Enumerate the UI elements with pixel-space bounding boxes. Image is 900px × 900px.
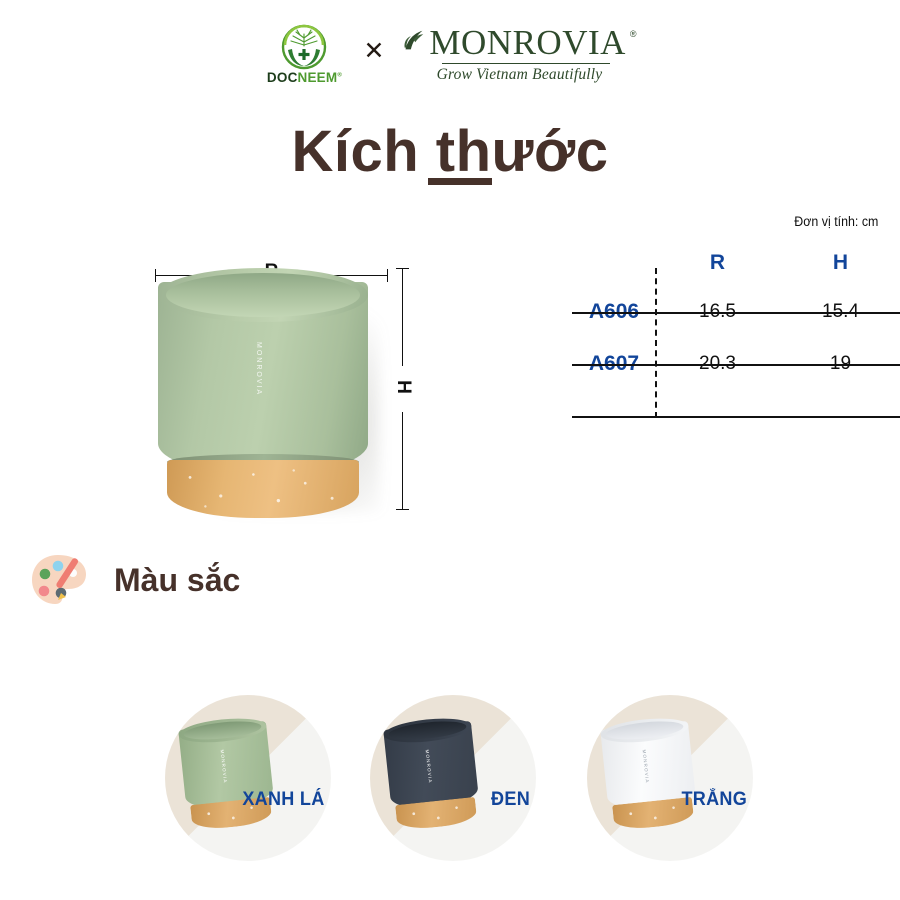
- color-swatch-list: MONROVIA XANH LÁ MONROVIA ĐEN: [0, 690, 900, 870]
- swatch-label: ĐEN: [491, 789, 530, 811]
- collaboration-separator: ✕: [363, 39, 384, 70]
- dimension-table: Đơn vị tính: cm R H A606 16.5 15.4: [572, 214, 900, 400]
- monrovia-divider: [442, 63, 610, 64]
- table-rule-top: [572, 312, 900, 314]
- color-swatch-xanh-la[interactable]: MONROVIA XANH LÁ: [165, 695, 331, 861]
- docneem-registered-mark: ®: [337, 73, 342, 79]
- swatch-label: TRẮNG: [681, 789, 747, 811]
- swatch-backdrop: MONROVIA: [370, 695, 536, 861]
- color-swatch-trang[interactable]: MONROVIA TRẮNG: [587, 695, 753, 861]
- table-header-r: R: [656, 240, 779, 286]
- docneem-tree-hands-icon: [276, 24, 332, 70]
- docneem-wordmark: DOCNEEM®: [267, 70, 342, 85]
- height-dimension-label: H: [392, 370, 414, 404]
- monrovia-leaf-icon: [402, 28, 425, 58]
- table-column-divider: [655, 268, 657, 418]
- product-dimension-figure: R MONROVIA H: [140, 225, 440, 525]
- product-pot-illustration: MONROVIA: [158, 268, 380, 516]
- monrovia-logo: MONROVIA ® Grow Vietnam Beautifully: [402, 25, 636, 84]
- colors-section-title: Màu sắc: [114, 562, 240, 599]
- swatch-label: XANH LÁ: [243, 789, 325, 811]
- table-header-row: R H: [572, 240, 900, 286]
- palette-icon: [28, 550, 100, 610]
- table-rule-bottom: [572, 416, 900, 418]
- brand-header: DOCNEEM® ✕ MONROVIA ® Grow Vietnam Beaut…: [0, 24, 900, 85]
- swatch-pot-illustration: MONROVIA: [383, 714, 486, 831]
- swatch-pot-illustration: MONROVIA: [600, 714, 703, 831]
- docneem-word-primary: DOC: [267, 70, 298, 85]
- infographic-page: DOCNEEM® ✕ MONROVIA ® Grow Vietnam Beaut…: [0, 0, 900, 900]
- monrovia-tagline: Grow Vietnam Beautifully: [437, 66, 603, 84]
- color-swatch-den[interactable]: MONROVIA ĐEN: [370, 695, 536, 861]
- swatch-backdrop: MONROVIA: [165, 695, 331, 861]
- docneem-logo: DOCNEEM®: [263, 24, 345, 85]
- monrovia-wordmark: MONROVIA: [429, 25, 626, 60]
- swatch-pot-illustration: MONROVIA: [178, 714, 281, 831]
- pot-interior: [166, 273, 360, 317]
- unit-note: Đơn vị tính: cm: [794, 214, 878, 229]
- colors-section-header: Màu sắc: [28, 550, 240, 610]
- table-header-code: [572, 240, 656, 286]
- pot-cork-base: [167, 460, 359, 518]
- height-dimension-line: H: [392, 268, 414, 510]
- page-title: Kích thước: [0, 118, 900, 185]
- pot-brand-mark: MONROVIA: [255, 342, 262, 396]
- table-rule-middle: [572, 364, 900, 366]
- monrovia-registered-mark: ®: [630, 29, 637, 39]
- docneem-word-secondary: NEEM: [298, 70, 338, 85]
- table-header-h: H: [779, 240, 900, 286]
- title-underline-accent: [428, 178, 492, 185]
- swatch-backdrop: MONROVIA: [587, 695, 753, 861]
